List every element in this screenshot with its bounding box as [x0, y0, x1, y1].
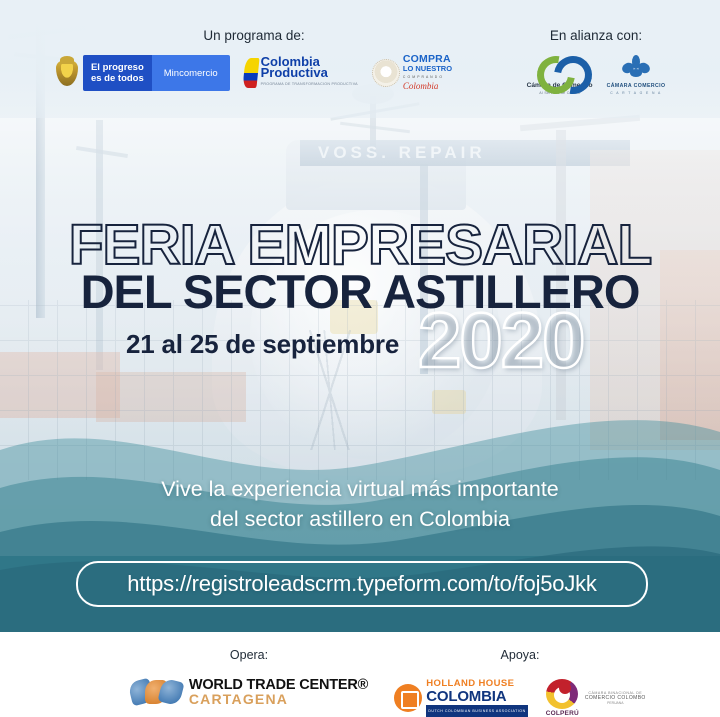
camara-cartagena-tagline: C A R T A G E N A — [610, 91, 661, 95]
gov-brand-bar: El progreso es de todos Mincomercio — [83, 55, 230, 91]
program-logos: El progreso es de todos Mincomercio Colo… — [24, 55, 484, 91]
holland-house-text: HOLLAND HOUSE COLOMBIA DUTCH COLOMBIAN B… — [426, 678, 527, 717]
headline-line-2: DEL SECTOR ASTILLERO — [0, 269, 720, 315]
tagline-line-1: Vive la experiencia virtual más importan… — [0, 474, 720, 504]
alliance-logo-group: En alianza con: Cámara de Comercio Al Se… — [490, 28, 702, 95]
supporter-column: Apoya: HOLLAND HOUSE COLOMBIA DUTCH COLO… — [370, 648, 670, 717]
colombia-productiva-text: Colombia Productiva PROGRAMA DE TRANSFOR… — [261, 56, 358, 91]
cp-tagline: PROGRAMA DE TRANSFORMACION PRODUCTIVA — [261, 79, 358, 91]
operator-label: Opera: — [84, 648, 414, 662]
headline-line-1: FERIA EMPRESARIAL — [0, 218, 720, 272]
program-label: Un programa de: — [24, 28, 484, 43]
registration-url-text[interactable]: https://registroleadscrm.typeform.com/to… — [127, 571, 596, 597]
supporter-logos: HOLLAND HOUSE COLOMBIA DUTCH COLOMBIAN B… — [370, 678, 670, 717]
colperu-line2: COMERCIO COLOMBO — [585, 696, 646, 701]
footer-bar: Opera: WORLD TRADE CENTER® CARTAGENA Apo… — [0, 632, 720, 717]
camara-cartagena-icon — [618, 55, 654, 81]
wtc-globes-icon — [130, 678, 182, 706]
camara-cartagena-name: CÁMARA COMERCIO — [607, 83, 666, 89]
hero-artwork: VOSS. REPAIR — [0, 0, 720, 632]
compra-script: Colombia — [403, 82, 452, 91]
cc2-shape-base — [630, 69, 642, 77]
gov-slogan-line2: es de todos — [91, 73, 144, 84]
program-logo-group: Un programa de: El progreso es de todos — [24, 28, 484, 91]
holland-house-icon — [394, 684, 422, 712]
compra-lo-nuestro-logo: COMPRA LO NUESTRO C O M P R A N D O Colo… — [372, 55, 452, 91]
hh-line3: DUTCH COLOMBIAN BUSINESS ASSOCIATION — [426, 705, 527, 717]
camara-cartagena-logo: CÁMARA COMERCIO C A R T A G E N A — [607, 55, 666, 95]
gov-slogan-line1: El progreso — [91, 62, 144, 73]
colperu-logo: COLPERÚ CÁMARA BINACIONAL DE COMERCIO CO… — [546, 679, 646, 717]
wtc-text: WORLD TRADE CENTER® CARTAGENA — [189, 678, 368, 706]
camara-de-comercio-logo: Cámara de Comercio Al Servicio de Cúcuta — [527, 56, 593, 95]
world-trade-center-logo: WORLD TRADE CENTER® CARTAGENA — [130, 678, 368, 706]
colombia-flag-icon — [242, 58, 259, 88]
colperu-name: COLPERÚ — [546, 710, 579, 717]
event-year: 2020 — [418, 301, 584, 379]
ministry-name: Mincomercio — [152, 55, 230, 91]
poster-root: VOSS. REPAIR — [0, 0, 720, 717]
gov-slogan: El progreso es de todos — [83, 55, 152, 91]
colombia-coat-of-arms-icon — [56, 60, 78, 86]
compra-line2: LO NUESTRO — [403, 64, 452, 73]
compra-line1: COMPRA — [403, 55, 452, 64]
partner-logo-row: Un programa de: El progreso es de todos — [0, 28, 720, 118]
hh-line2: COLOMBIA — [426, 689, 527, 705]
holland-house-logo: HOLLAND HOUSE COLOMBIA DUTCH COLOMBIAN B… — [394, 678, 527, 717]
gov-colombia-logo: El progreso es de todos Mincomercio — [56, 55, 230, 91]
hero-headline: FERIA EMPRESARIAL DEL SECTOR ASTILLERO 2… — [0, 218, 720, 387]
colombia-productiva-logo: Colombia Productiva PROGRAMA DE TRANSFOR… — [244, 56, 358, 91]
colperu-line3: PERUANA — [585, 701, 646, 706]
tagline-block: Vive la experiencia virtual más importan… — [0, 474, 720, 534]
wtc-line2: CARTAGENA — [189, 692, 368, 706]
registration-url-button[interactable]: https://registroleadscrm.typeform.com/to… — [76, 561, 648, 607]
compra-text: COMPRA LO NUESTRO C O M P R A N D O Colo… — [403, 55, 452, 91]
operator-logos: WORLD TRADE CENTER® CARTAGENA — [84, 678, 414, 706]
wtc-line1: WORLD TRADE CENTER® — [189, 678, 368, 692]
event-dates: 21 al 25 de septiembre — [126, 329, 399, 360]
colperu-text: CÁMARA BINACIONAL DE COMERCIO COLOMBO PE… — [585, 691, 646, 706]
camara-circles-icon — [537, 56, 583, 80]
operator-column: Opera: WORLD TRADE CENTER® CARTAGENA — [84, 648, 414, 706]
tagline-line-2: del sector astillero en Colombia — [0, 504, 720, 534]
colperu-mark-group: COLPERÚ — [546, 679, 579, 717]
alliance-logos: Cámara de Comercio Al Servicio de Cúcuta… — [490, 55, 702, 95]
colperu-swirl-icon — [546, 679, 578, 709]
date-year-row: 21 al 25 de septiembre 2020 — [0, 313, 720, 387]
alliance-label: En alianza con: — [490, 28, 702, 43]
supporter-label: Apoya: — [370, 648, 670, 662]
compra-seal-icon — [372, 59, 400, 87]
cp-line2: Productiva — [261, 67, 358, 79]
